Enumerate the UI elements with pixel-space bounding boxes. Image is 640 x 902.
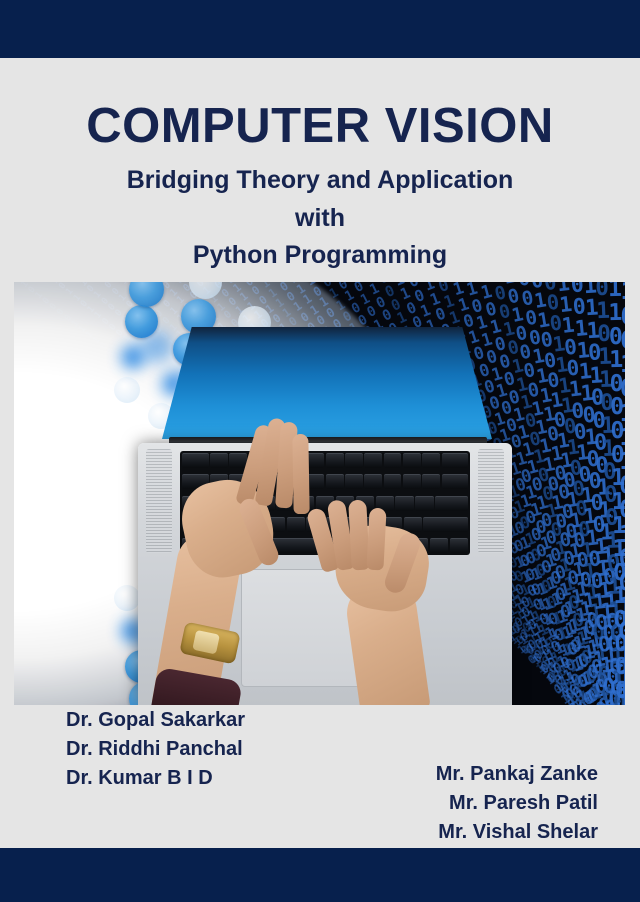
laptop-speaker-left	[146, 449, 172, 553]
author-name: Dr. Kumar B I D	[66, 764, 245, 793]
keyboard-key	[326, 474, 344, 489]
blue-disc	[129, 282, 164, 307]
keyboard-key	[430, 538, 448, 553]
book-title: COMPUTER VISION	[0, 58, 640, 151]
blue-disc	[114, 377, 140, 403]
keyboard-key	[442, 453, 469, 468]
keyboard-key	[345, 474, 363, 489]
keyboard-key	[364, 453, 382, 468]
right-finger-4	[366, 508, 386, 571]
author-list-left: Dr. Gopal SakarkarDr. Riddhi PanchalDr. …	[66, 706, 245, 793]
blue-disc	[189, 282, 222, 299]
keyboard-key	[345, 453, 363, 468]
blue-disc	[114, 585, 140, 611]
wristwatch-face	[192, 630, 220, 655]
laptop-screen	[162, 327, 492, 439]
author-name: Mr. Pankaj Zanke	[436, 760, 598, 789]
keyboard-key	[384, 474, 402, 489]
author-name: Mr. Vishal Shelar	[436, 818, 598, 847]
keyboard-key	[395, 496, 413, 511]
book-cover: COMPUTER VISION Bridging Theory and Appl…	[0, 0, 640, 902]
keyboard-key	[422, 474, 440, 489]
keyboard-row	[182, 453, 468, 468]
keyboard-key	[403, 474, 421, 489]
title-block: COMPUTER VISION Bridging Theory and Appl…	[0, 58, 640, 270]
keyboard-key	[287, 517, 305, 532]
keyboard-key	[403, 453, 421, 468]
author-name: Dr. Riddhi Panchal	[66, 735, 245, 764]
keyboard-key	[442, 474, 469, 489]
book-subtitle-line-1: Bridging Theory and Application	[0, 151, 640, 195]
keyboard-key	[364, 474, 382, 489]
keyboard-key	[307, 453, 325, 468]
cover-photo: 0 1 0 0 0 0 1 1 1 1 0 1 0 0 0 0 1 1 1 1 …	[14, 282, 625, 705]
keyboard-key	[423, 517, 468, 532]
author-name: Mr. Paresh Patil	[436, 789, 598, 818]
keyboard-key	[404, 517, 422, 532]
top-navy-band	[0, 0, 640, 58]
keyboard-key	[384, 453, 402, 468]
blue-disc	[137, 327, 177, 367]
keyboard-key	[450, 538, 468, 553]
keyboard-key	[415, 496, 433, 511]
keyboard-key	[435, 496, 468, 511]
keyboard-key	[182, 453, 209, 468]
book-subtitle-line-2: with	[0, 195, 640, 233]
keyboard-key	[326, 453, 344, 468]
keyboard-key	[422, 453, 440, 468]
author-name: Dr. Gopal Sakarkar	[66, 706, 245, 735]
laptop-speaker-right	[478, 449, 504, 553]
book-subtitle-line-3: Python Programming	[0, 232, 640, 270]
keyboard-key	[210, 453, 228, 468]
left-finger-4	[292, 434, 309, 514]
bottom-navy-band	[0, 848, 640, 902]
